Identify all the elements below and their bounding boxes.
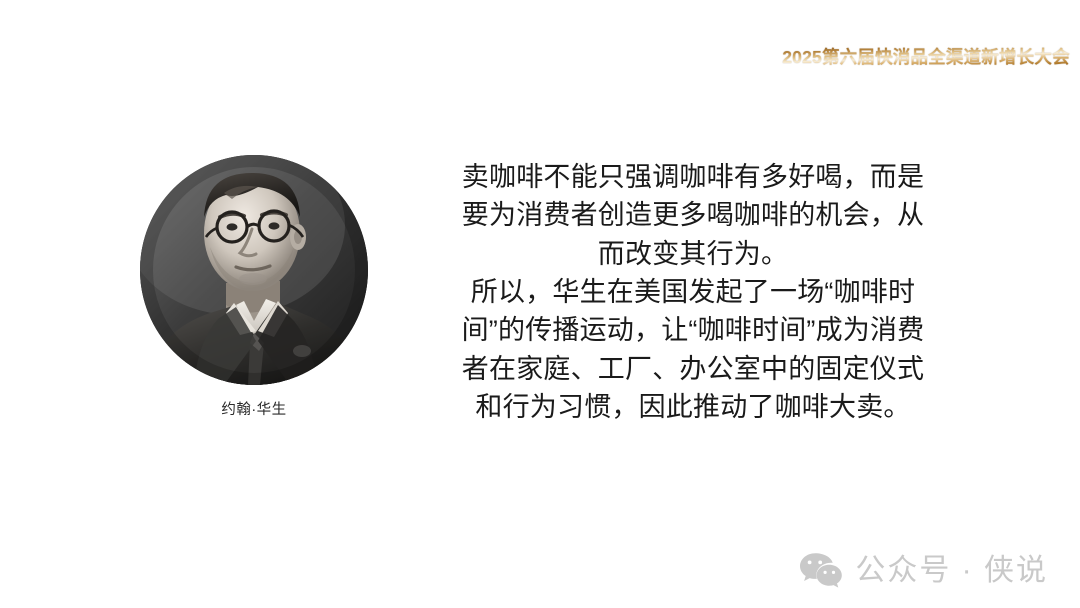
quote-text-block: 卖咖啡不能只强调咖啡有多好喝，而是要为消费者创造更多喝咖啡的机会，从而改变其行为… — [452, 158, 934, 426]
portrait-illustration — [140, 155, 368, 385]
conference-subtitle: 2025第六届快消品全渠道新增长大会 — [780, 47, 1072, 67]
watermark: 公众号 · 侠说 — [799, 552, 1048, 590]
wechat-icon — [799, 552, 843, 590]
portrait-caption: 约翰·华生 — [140, 401, 368, 420]
portrait-photo — [140, 155, 368, 385]
quote-paragraph-2: 所以，华生在美国发起了一场“咖啡时间”的传播运动，让“咖啡时间”成为消费者在家庭… — [452, 273, 934, 426]
portrait-block: 约翰·华生 — [140, 155, 368, 420]
watermark-label: 公众号 · 侠说 — [855, 556, 1048, 586]
quote-paragraph-1: 卖咖啡不能只强调咖啡有多好喝，而是要为消费者创造更多喝咖啡的机会，从而改变其行为… — [452, 158, 934, 273]
presentation-slide: 全域突破 聚势增长 2025第六届快消品全渠道新增长大会 — [0, 0, 1080, 608]
conference-title: 全域突破 聚势增长 — [780, 12, 1072, 44]
conference-branding: 全域突破 聚势增长 2025第六届快消品全渠道新增长大会 — [780, 12, 1072, 68]
